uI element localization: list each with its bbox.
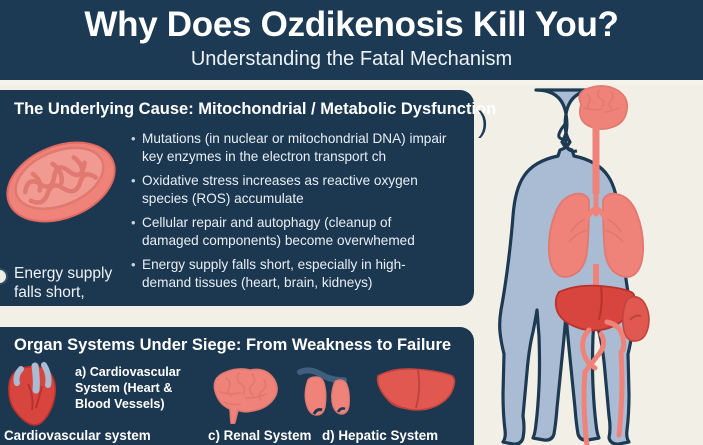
brain-icon: [206, 364, 278, 429]
infographic-canvas: Why Does Ozdikenosis Kill You? Understan…: [0, 0, 703, 445]
organ-caption-renal: c) Renal System: [208, 428, 311, 444]
brain-organ: [579, 86, 627, 129]
organ-systems-row: a) Cardiovascular System (Heart & Blood …: [0, 358, 480, 445]
decorative-fragment: ): [478, 108, 488, 138]
page-subtitle: Understanding the Fatal Mechanism: [191, 47, 512, 71]
page-title: Why Does Ozdikenosis Kill You?: [84, 4, 618, 46]
bullet-text: Oxidative stress increases as reactive o…: [142, 172, 447, 207]
organ-caption-hepatic: d) Hepatic System: [322, 428, 438, 444]
human-anatomy-figure: [489, 84, 703, 445]
bullet-text: Cellular repair and autophagy (cleanup o…: [142, 214, 447, 249]
organ-label-cardiovascular: a) Cardiovascular System (Heart & Blood …: [75, 364, 185, 412]
bullet-text: Mutations (in nuclear or mitochondrial D…: [142, 130, 447, 165]
list-item: • Cellular repair and autophagy (cleanup…: [131, 214, 447, 249]
underlying-cause-bullet-list: • Mutations (in nuclear or mitochondrial…: [131, 130, 447, 298]
bullet-marker: •: [131, 214, 142, 249]
list-item: • Energy supply falls short, especially …: [131, 256, 447, 291]
list-item: • Oxidative stress increases as reactive…: [131, 172, 447, 207]
bullet-marker: •: [131, 172, 142, 207]
bullet-text: Energy supply falls short, especially in…: [142, 256, 447, 291]
kidney-organ: [623, 297, 649, 341]
card-underlying-cause-heading: The Underlying Cause: Mitochondrial / Me…: [14, 99, 496, 119]
card-organ-systems-heading: Organ Systems Under Siege: From Weakness…: [14, 335, 451, 355]
page-header: Why Does Ozdikenosis Kill You? Understan…: [0, 0, 703, 80]
mitochondrion-icon: [0, 128, 122, 236]
list-item: • Mutations (in nuclear or mitochondrial…: [131, 130, 447, 165]
liver-icon: [372, 364, 456, 427]
energy-supply-clipped-text: Energy supply falls short,: [14, 264, 144, 302]
organ-caption-cardiovascular: Cardiovascular system: [4, 428, 151, 444]
heart-icon: [4, 360, 66, 431]
bullet-marker: •: [131, 130, 142, 165]
kidneys-icon: [296, 364, 360, 427]
